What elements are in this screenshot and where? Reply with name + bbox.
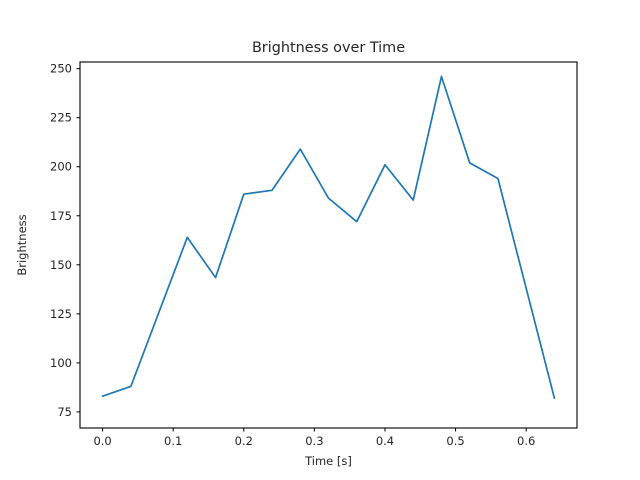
x-tick-label: 0.3 (305, 434, 323, 448)
y-tick-label: 150 (50, 258, 72, 272)
x-tick-label: 0.0 (93, 434, 111, 448)
x-tick-label: 0.1 (164, 434, 182, 448)
x-tick-label: 0.6 (517, 434, 535, 448)
line-chart: Brightness over Time 7510012515017520022… (0, 0, 640, 480)
chart-title: Brightness over Time (252, 40, 405, 56)
figure-canvas: Brightness over Time 7510012515017520022… (0, 0, 640, 480)
x-tick-label: 0.2 (235, 434, 253, 448)
y-axis-label: Brightness (15, 214, 29, 275)
x-axis-label: Time [s] (304, 454, 352, 468)
y-tick-label: 250 (50, 62, 72, 76)
x-tick-label: 0.5 (446, 434, 464, 448)
y-tick-label: 75 (57, 405, 72, 419)
y-tick-label: 175 (50, 209, 72, 223)
y-tick-label: 100 (50, 356, 72, 370)
y-tick-label: 125 (50, 307, 72, 321)
axes-background (80, 62, 577, 428)
x-tick-label: 0.4 (376, 434, 394, 448)
y-tick-label: 200 (50, 160, 72, 174)
y-tick-label: 225 (50, 111, 72, 125)
